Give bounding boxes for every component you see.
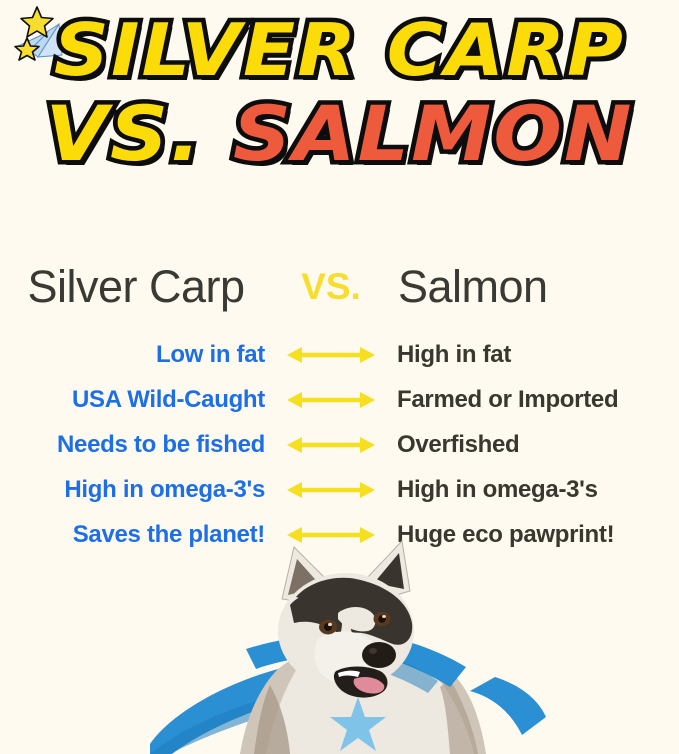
title-line-two: VS. SALMON (0, 96, 679, 172)
table-row: High in omega-3's High in omega-3's (0, 467, 679, 512)
double-arrow-icon (268, 389, 393, 411)
husky-dog-illustration (150, 539, 550, 754)
table-row: Low in fat High in fat (0, 332, 679, 377)
title-line-one: SILVER CARP (0, 14, 679, 86)
row-right-label: High in omega-3's (393, 476, 679, 504)
row-left-label: Needs to be fished (0, 431, 268, 459)
comparison-rows: Low in fat High in fat USA Wild-Caught F… (0, 332, 679, 557)
double-arrow-icon (268, 344, 393, 366)
row-right-label: High in fat (393, 341, 679, 369)
double-arrow-icon (268, 434, 393, 456)
table-row: Needs to be fished Overfished (0, 422, 679, 467)
table-row: USA Wild-Caught Farmed or Imported (0, 377, 679, 422)
row-right-label: Overfished (393, 431, 679, 459)
header-vs-label: VS. (272, 266, 390, 308)
header-left-label: Silver Carp (0, 261, 272, 313)
header-right-label: Salmon (390, 261, 679, 313)
title-vs: VS. (45, 96, 202, 172)
title-silver-carp: SILVER CARP (54, 14, 625, 86)
husky-dog-photo (0, 539, 679, 754)
row-left-label: USA Wild-Caught (0, 386, 268, 414)
title-salmon: SALMON (233, 96, 633, 172)
row-left-label: High in omega-3's (0, 476, 268, 504)
comic-title: SILVER CARP VS. SALMON (0, 4, 679, 204)
infographic-poster: SILVER CARP VS. SALMON Silver Carp VS. S… (0, 0, 679, 754)
row-right-label: Farmed or Imported (393, 386, 679, 414)
row-left-label: Low in fat (0, 341, 268, 369)
comparison-header: Silver Carp VS. Salmon (0, 256, 679, 318)
double-arrow-icon (268, 479, 393, 501)
